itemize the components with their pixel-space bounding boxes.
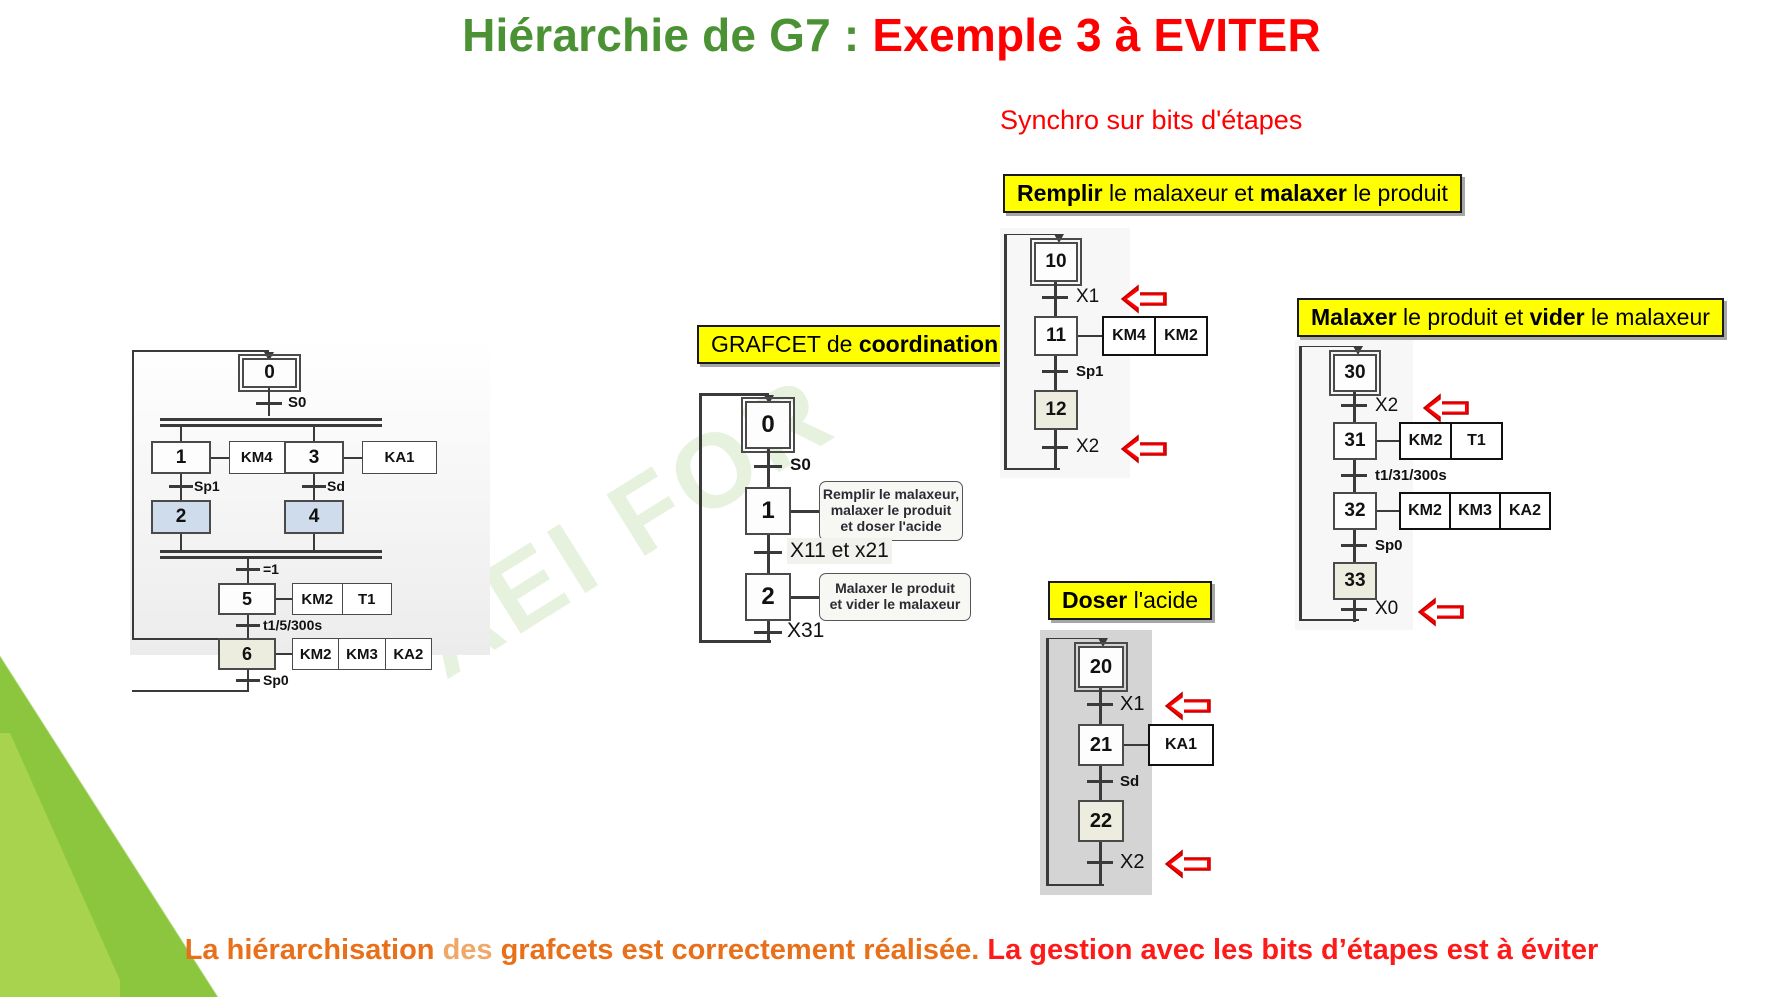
bottom-divider <box>0 997 1783 1003</box>
action-cell: KM2 <box>1401 424 1452 458</box>
transition-bar-t1-5-300s <box>236 624 260 627</box>
transition-label-x2-malaxer: X2 <box>1375 395 1398 417</box>
coord-transition-label-x31: X31 <box>787 619 824 643</box>
malaxer-loop-top <box>1299 346 1359 347</box>
coord-transition-bar-x11x21 <box>754 551 782 554</box>
action-cell: KA1 <box>1150 726 1212 764</box>
step-2[interactable]: 2 <box>151 500 211 534</box>
label-malaxer-tail: le malaxeur <box>1585 304 1710 330</box>
transition-label-t1-31-300s: t1/31/300s <box>1375 467 1447 484</box>
remplir-link-step11-action <box>1078 335 1102 337</box>
label-malaxer-bold2: vider <box>1530 304 1585 330</box>
action-cell: T1 <box>1452 424 1501 458</box>
transition-label-sd: Sd <box>327 478 345 494</box>
transition-bar-x1-doser <box>1087 703 1113 706</box>
label-malaxer-vider: Malaxer le produit et vider le malaxeur <box>1297 298 1724 337</box>
red-arrow-x2-doser <box>1164 847 1212 881</box>
step-4[interactable]: 4 <box>284 500 344 534</box>
transition-bar-t1-31-300s <box>1341 474 1367 477</box>
remplir-loop-top <box>1004 234 1060 235</box>
coord-step-0[interactable]: 0 <box>745 401 791 449</box>
label-remplir-tail: le produit <box>1347 180 1448 206</box>
doser-loop-bottom <box>1046 884 1104 886</box>
coord-link-step2-note <box>791 596 819 599</box>
step-6[interactable]: 6 <box>218 638 276 670</box>
grafcet-remplir: 10 X1 11 KM4 KM2 Sp1 12 X2 <box>1000 228 1260 488</box>
loop-top-horizontal <box>132 350 269 352</box>
caption-seg2: des <box>443 934 501 966</box>
transition-bar-sd <box>302 485 326 488</box>
label-remplir-mid: le malaxeur et <box>1103 180 1260 206</box>
action-box-step-6: KM2 KM3 KA2 <box>292 638 432 670</box>
label-doser-bold1: Doser <box>1062 587 1127 613</box>
transition-bar-sp0 <box>236 679 260 682</box>
remplir-link-11-t <box>1054 356 1057 390</box>
branch-b-down <box>313 427 315 441</box>
transition-bar-x0-malaxer <box>1341 608 1367 611</box>
link-2-down <box>180 534 182 550</box>
remplir-loop-bottom <box>1004 468 1060 470</box>
label-doser-tail: l'acide <box>1127 587 1198 613</box>
action-cell: KA2 <box>1501 494 1549 528</box>
transition-label-x2-doser: X2 <box>1120 851 1144 874</box>
malaxer-link-30-t <box>1353 392 1356 422</box>
transition-label-sd-doser: Sd <box>1120 773 1139 790</box>
link-step1-action <box>211 457 229 459</box>
link-conv-to-t-eq1 <box>247 559 249 583</box>
grafcet-coordination: 0 S0 1 Remplir le malaxeur, malaxer le p… <box>695 385 995 665</box>
branch-a-down <box>180 427 182 441</box>
slide-title: Hiérarchie de G7 : Exemple 3 à EVITER <box>0 8 1783 62</box>
step-33[interactable]: 33 <box>1333 562 1377 600</box>
remplir-link-10-t <box>1054 282 1057 316</box>
transition-bar-sp1-remplir <box>1042 370 1068 373</box>
action-box-step-5: KM2 T1 <box>292 583 392 615</box>
malaxer-link-step32-action <box>1377 510 1399 512</box>
title-red-part: Exemple 3 à EVITER <box>872 9 1320 61</box>
transition-label-sp1: Sp1 <box>194 478 220 494</box>
action-cell: KM3 <box>1451 494 1501 528</box>
note-line: et doser l'acide <box>840 519 941 535</box>
grafcet-left-main: 0 S0 1 KM4 KM2 Sp1 2 3 KA1 Sd 4 =1 5 KM2… <box>130 340 490 660</box>
label-coord-bold: coordination <box>859 331 998 357</box>
loop-return-bottom <box>132 690 249 692</box>
label-remplir-bold2: malaxer <box>1260 180 1347 206</box>
coord-transition-label-x11x21: X11 et x21 <box>787 538 892 564</box>
transition-bar-x2-doser <box>1087 861 1113 864</box>
link-4-down <box>313 534 315 550</box>
action-cell: KM4 <box>1104 318 1156 354</box>
transition-label-x1-remplir: X1 <box>1076 286 1099 308</box>
coord-step-2[interactable]: 2 <box>745 573 791 621</box>
step-30[interactable]: 30 <box>1333 354 1377 392</box>
transition-label-sp0: Sp0 <box>263 672 289 688</box>
red-arrow-x2-remplir <box>1120 432 1168 466</box>
red-arrow-x1-remplir <box>1120 282 1168 316</box>
step-22[interactable]: 22 <box>1078 800 1124 842</box>
grafcet-malaxer: 30 X2 31 KM2 T1 t1/31/300s 32 KM2 KM3 KA… <box>1295 340 1595 640</box>
coord-loop-top <box>699 393 769 396</box>
transition-bar-eq1 <box>236 568 260 571</box>
label-grafcet-coordination: GRAFCET de coordination <box>697 325 1012 364</box>
action-box-step-32: KM2 KM3 KA2 <box>1399 492 1551 530</box>
transition-bar-x1-remplir <box>1042 296 1068 299</box>
title-green-part: Hiérarchie de G7 : <box>462 9 872 61</box>
coord-transition-bar-s0 <box>754 465 782 468</box>
action-cell: KM2 <box>293 639 339 669</box>
doser-link-step21-action <box>1124 744 1148 746</box>
transition-label-x1-doser: X1 <box>1120 693 1144 716</box>
step-5[interactable]: 5 <box>218 583 276 615</box>
step-10[interactable]: 10 <box>1034 242 1078 282</box>
transition-bar-sp1 <box>169 485 193 488</box>
note-line: et vider le malaxeur <box>830 597 961 613</box>
note-line: Remplir le malaxeur, <box>823 487 959 503</box>
coord-loop-bottom <box>699 640 771 643</box>
and-convergence-bar <box>160 550 382 559</box>
label-remplir-malaxer: Remplir le malaxeur et malaxer le produi… <box>1003 174 1462 213</box>
coord-loop-vertical <box>699 393 702 643</box>
step-3[interactable]: 3 <box>284 441 344 474</box>
action-box-step-3: KA1 <box>362 441 437 474</box>
coord-note-step-1: Remplir le malaxeur, malaxer le produit … <box>819 481 963 541</box>
step-32[interactable]: 32 <box>1333 492 1377 530</box>
link-step5-action <box>276 598 292 600</box>
coord-link-0-t <box>767 449 770 487</box>
doser-link-21-t <box>1099 766 1102 800</box>
doser-loop-top <box>1046 638 1104 639</box>
malaxer-link-33-t <box>1353 600 1356 622</box>
step-1[interactable]: 1 <box>151 441 211 474</box>
label-doser-acide: Doser l'acide <box>1048 581 1212 620</box>
coord-link-step1-note <box>791 510 819 513</box>
coord-note-step-2: Malaxer le produit et vider le malaxeur <box>819 573 971 621</box>
transition-label-x0-malaxer: X0 <box>1375 598 1398 620</box>
transition-label-x2-remplir: X2 <box>1076 436 1099 458</box>
action-cell: KM2 <box>1156 318 1206 354</box>
red-arrow-x0-malaxer <box>1417 595 1465 629</box>
step-12[interactable]: 12 <box>1034 390 1078 430</box>
action-cell: KM2 <box>1401 494 1451 528</box>
caption-seg3: grafcets est correctement réalisée. <box>501 934 988 966</box>
transition-label-t1-5-300s: t1/5/300s <box>263 617 322 633</box>
transition-bar-s0 <box>256 402 282 405</box>
caption-seg4: La gestion avec les bits d’étapes est à … <box>987 934 1598 966</box>
remplir-link-12-t <box>1054 430 1057 468</box>
transition-bar-sp0-malaxer <box>1341 544 1367 547</box>
coord-transition-bar-x31 <box>754 631 782 634</box>
action-box-step-11: KM4 KM2 <box>1102 316 1208 356</box>
action-box-step-31: KM2 T1 <box>1399 422 1503 460</box>
step-11[interactable]: 11 <box>1034 316 1078 356</box>
link-step6-action <box>276 653 292 655</box>
caption-seg1: La hiérarchisation <box>185 934 443 966</box>
doser-link-20-t <box>1099 688 1102 724</box>
doser-loop-vertical <box>1046 638 1049 886</box>
grafcet-doser: 20 X1 21 KA1 Sd 22 X2 <box>1040 630 1300 900</box>
coord-link-1-t <box>767 535 770 573</box>
red-arrow-x2-malaxer <box>1422 391 1470 425</box>
action-cell: T1 <box>343 584 392 614</box>
coord-transition-label-s0: S0 <box>790 455 811 475</box>
bottom-caption: La hiérarchisation des grafcets est corr… <box>0 934 1783 967</box>
remplir-loop-vertical <box>1004 234 1007 469</box>
transition-label-eq1: =1 <box>263 561 279 577</box>
note-line: malaxer le produit <box>831 503 952 519</box>
step-20[interactable]: 20 <box>1078 646 1124 688</box>
step-21[interactable]: 21 <box>1078 724 1124 766</box>
transition-bar-sd-doser <box>1087 780 1113 783</box>
action-cell: KM2 <box>293 584 343 614</box>
label-remplir-bold1: Remplir <box>1017 180 1103 206</box>
note-line: Malaxer le produit <box>835 581 955 597</box>
action-cell: KM3 <box>339 639 385 669</box>
malaxer-link-step31-action <box>1377 440 1399 442</box>
malaxer-loop-bottom <box>1299 619 1359 621</box>
transition-bar-x2-malaxer <box>1341 404 1367 407</box>
transition-bar-x2-remplir <box>1042 446 1068 449</box>
and-divergence-bar <box>160 418 382 427</box>
malaxer-loop-vertical <box>1299 346 1302 621</box>
link-step3-action <box>344 457 362 459</box>
action-box-step-21: KA1 <box>1148 724 1214 766</box>
subtitle-synchro: Synchro sur bits d'étapes <box>1000 105 1302 136</box>
action-cell: KA1 <box>363 442 436 473</box>
step-31[interactable]: 31 <box>1333 422 1377 460</box>
action-cell: KM4 <box>230 442 285 473</box>
label-coord-prefix: GRAFCET de <box>711 331 859 357</box>
step-0[interactable]: 0 <box>242 358 297 388</box>
red-arrow-x1-doser <box>1164 689 1212 723</box>
action-cell: KA2 <box>386 639 431 669</box>
label-malaxer-bold1: Malaxer <box>1311 304 1397 330</box>
transition-label-sp0-malaxer: Sp0 <box>1375 537 1403 554</box>
transition-label-sp1-remplir: Sp1 <box>1076 363 1104 380</box>
loop-left-vertical <box>132 350 134 640</box>
transition-label-s0: S0 <box>288 394 306 411</box>
coord-step-1[interactable]: 1 <box>745 487 791 535</box>
label-malaxer-mid: le produit et <box>1397 304 1530 330</box>
